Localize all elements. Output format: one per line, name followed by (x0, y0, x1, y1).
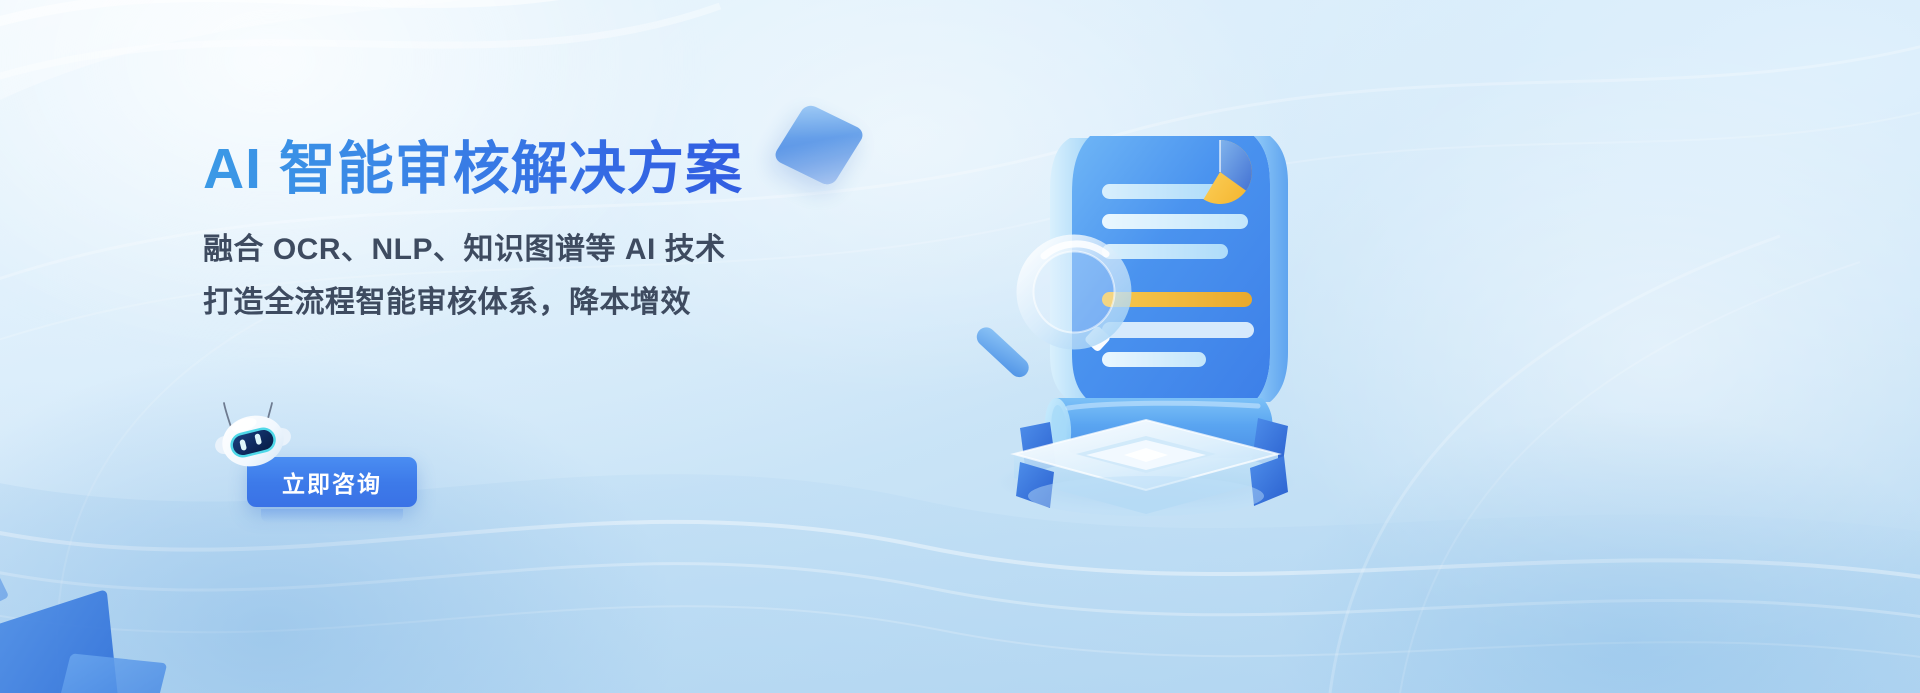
hero-subtitle-line-2: 打造全流程智能审核体系，降本增效 (203, 280, 923, 327)
hero-subtitle-line-1: 融合 OCR、NLP、知识图谱等 AI 技术 (203, 233, 726, 266)
cta-button-reflection (261, 509, 403, 523)
cta-area: 立即咨询 (203, 405, 563, 535)
ai-document-review-3d-illustration (958, 96, 1358, 516)
background-shade-bottom-right (1280, 413, 1920, 693)
hero-banner: AI 智能审核解决方案 融合 OCR、NLP、知识图谱等 AI 技术 打造全流程… (0, 0, 1920, 693)
page-title: AI 智能审核解决方案 (203, 136, 923, 203)
hero-subtitle: 融合 OCR、NLP、知识图谱等 AI 技术 打造全流程智能审核体系，降本增效 (203, 227, 923, 326)
hero-copy: AI 智能审核解决方案 融合 OCR、NLP、知识图谱等 AI 技术 打造全流程… (203, 136, 923, 326)
robot-head-icon (211, 401, 295, 475)
